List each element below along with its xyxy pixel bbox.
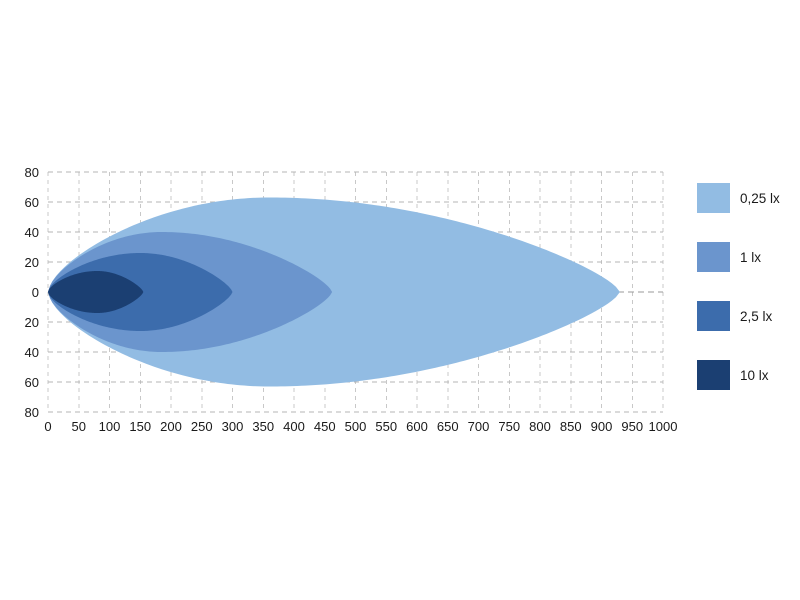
x-tick-label: 850 xyxy=(560,419,582,434)
chart-canvas: 0501001502002503003504004505005506006507… xyxy=(0,0,800,600)
legend-swatch xyxy=(697,183,730,213)
y-tick-label: 80 xyxy=(25,165,39,180)
x-tick-label: 0 xyxy=(44,419,51,434)
x-tick-label: 250 xyxy=(191,419,213,434)
legend-label: 10 lx xyxy=(740,368,769,383)
x-axis-tick-labels: 0501001502002503003504004505005506006507… xyxy=(44,419,677,434)
legend-label: 1 lx xyxy=(740,250,761,265)
x-tick-label: 450 xyxy=(314,419,336,434)
y-tick-label: 40 xyxy=(25,345,39,360)
x-tick-label: 700 xyxy=(468,419,490,434)
y-tick-label: 60 xyxy=(25,375,39,390)
y-tick-label: 40 xyxy=(25,225,39,240)
y-tick-label: 80 xyxy=(25,405,39,420)
legend-swatch xyxy=(697,360,730,390)
legend-swatch xyxy=(697,301,730,331)
x-tick-label: 900 xyxy=(591,419,613,434)
x-tick-label: 650 xyxy=(437,419,459,434)
x-tick-label: 800 xyxy=(529,419,551,434)
x-tick-label: 200 xyxy=(160,419,182,434)
x-tick-label: 600 xyxy=(406,419,428,434)
legend-label: 2,5 lx xyxy=(740,309,773,324)
x-tick-label: 750 xyxy=(498,419,520,434)
x-tick-label: 950 xyxy=(621,419,643,434)
y-tick-label: 20 xyxy=(25,315,39,330)
y-axis-tick-labels: 80604020020406080 xyxy=(25,165,39,420)
x-tick-label: 1000 xyxy=(649,419,678,434)
x-tick-label: 350 xyxy=(252,419,274,434)
x-tick-label: 150 xyxy=(129,419,151,434)
x-tick-label: 50 xyxy=(72,419,86,434)
x-tick-label: 300 xyxy=(222,419,244,434)
legend: 0,25 lx1 lx2,5 lx10 lx xyxy=(697,183,780,390)
x-tick-label: 550 xyxy=(375,419,397,434)
isolux-lobes xyxy=(48,198,620,387)
light-distribution-diagram: 0501001502002503003504004505005506006507… xyxy=(0,0,800,600)
x-tick-label: 100 xyxy=(99,419,121,434)
legend-swatch xyxy=(697,242,730,272)
y-tick-label: 0 xyxy=(32,285,39,300)
x-tick-label: 500 xyxy=(345,419,367,434)
y-tick-label: 20 xyxy=(25,255,39,270)
x-tick-label: 400 xyxy=(283,419,305,434)
y-tick-label: 60 xyxy=(25,195,39,210)
legend-label: 0,25 lx xyxy=(740,191,780,206)
